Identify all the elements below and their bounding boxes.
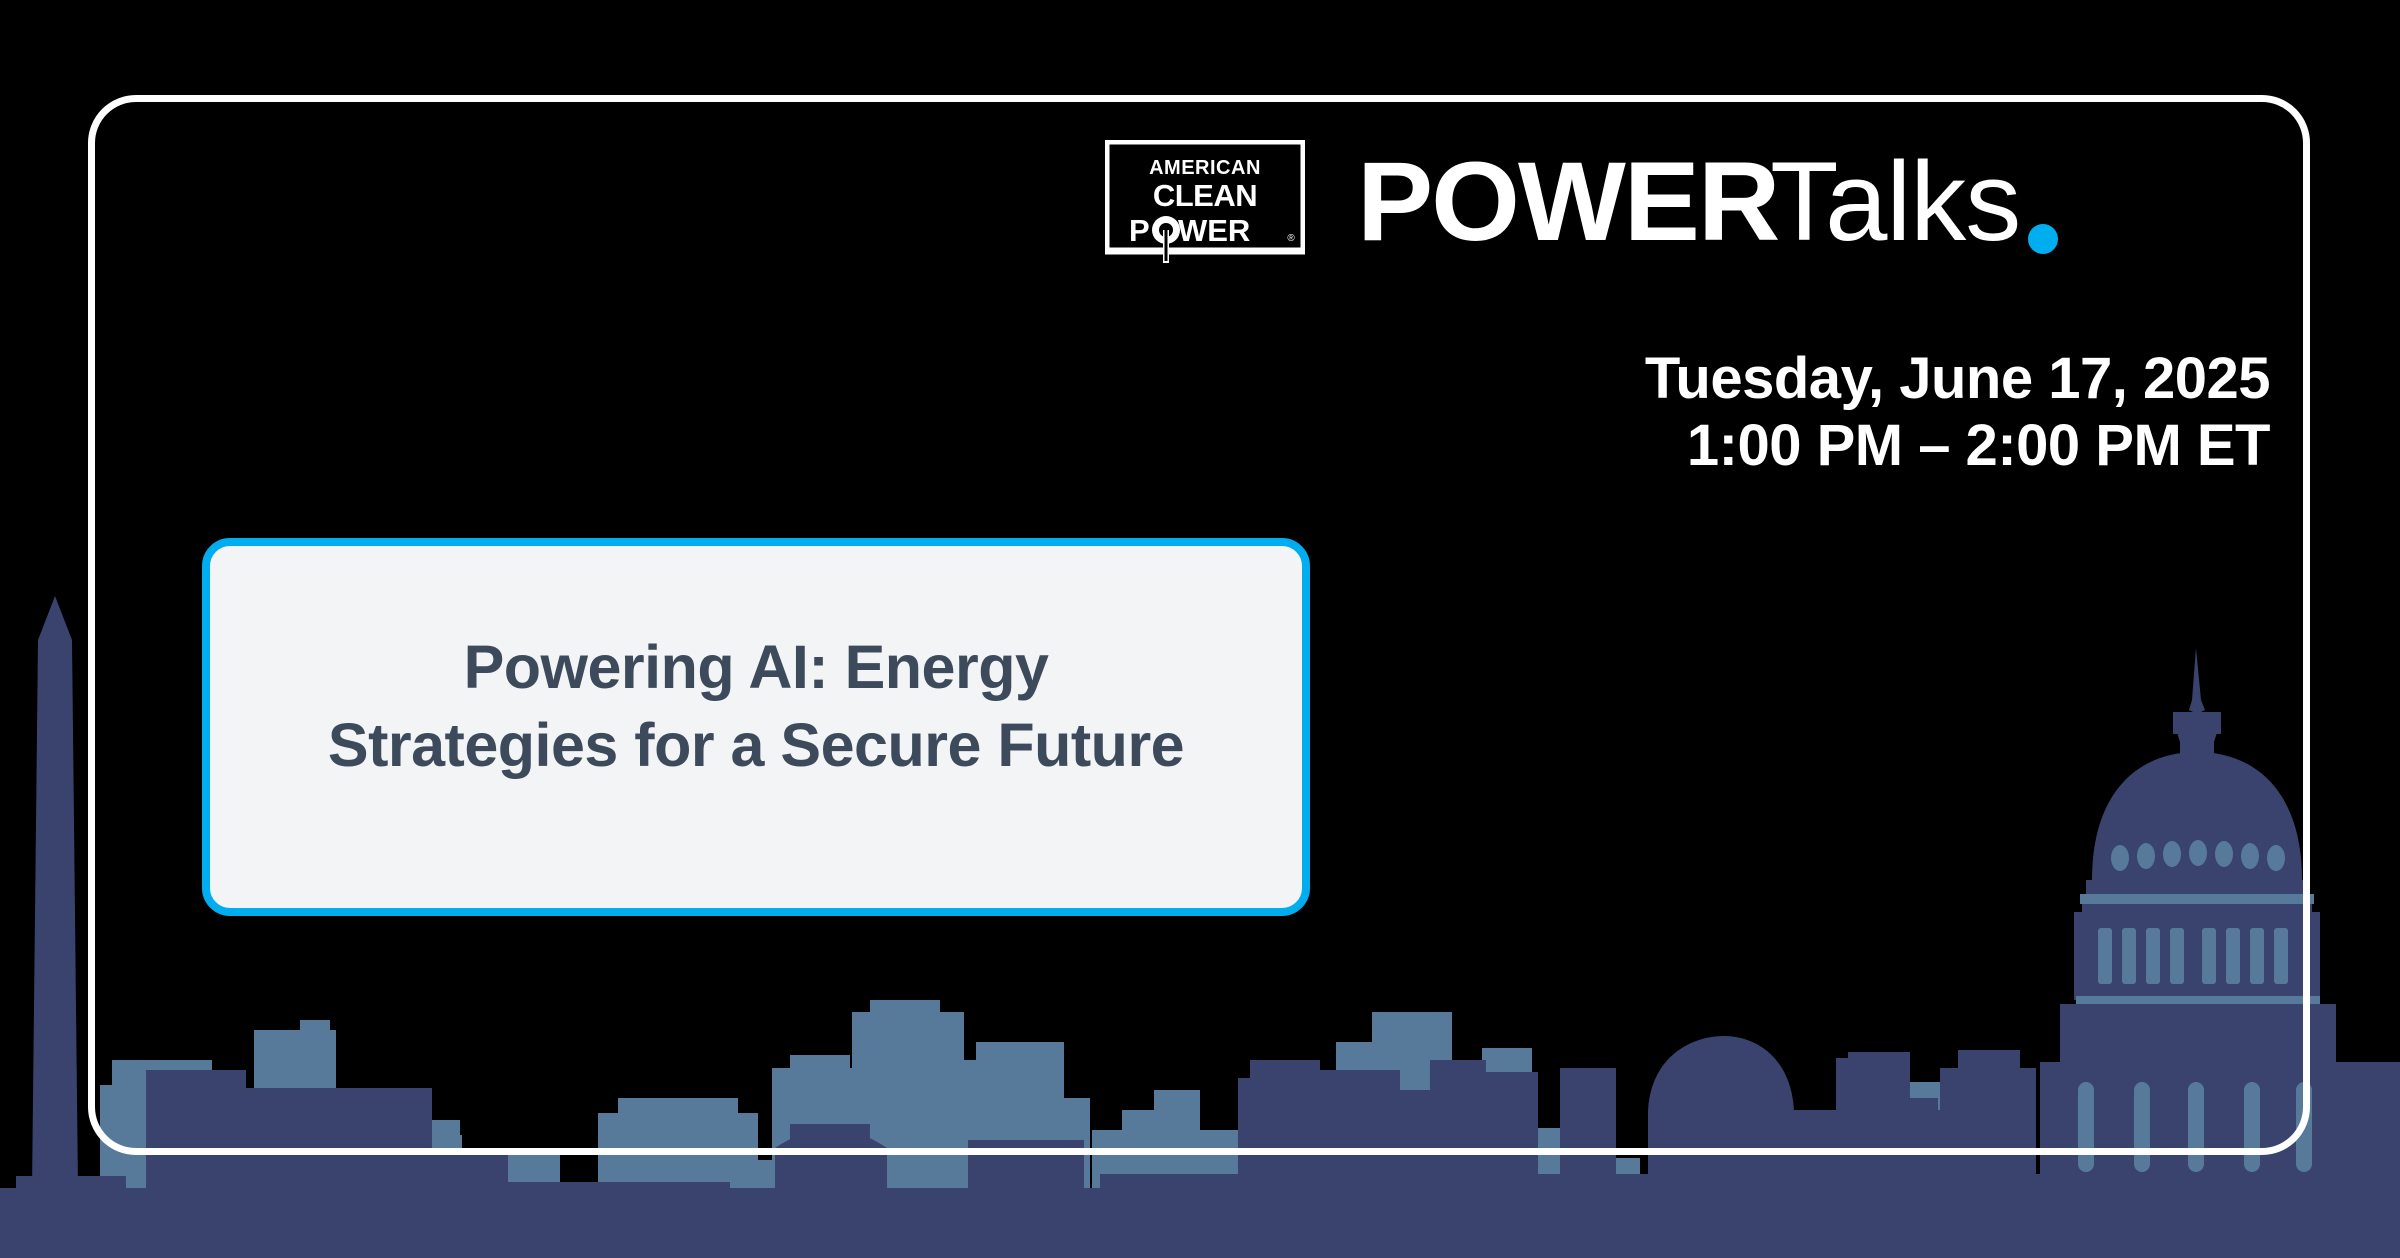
event-title: Powering AI: Energy Strategies for a Sec… — [328, 628, 1184, 784]
svg-text:P: P — [1129, 213, 1150, 248]
power-talks-promo-graphic: AMERICAN CLEAN P WER ® POWER Talks — [0, 0, 2400, 1258]
svg-text:®: ® — [1287, 233, 1295, 244]
svg-text:CLEAN: CLEAN — [1153, 178, 1257, 213]
american-clean-power-logo: AMERICAN CLEAN P WER ® — [1105, 140, 1305, 263]
power-talks-wordmark: POWER Talks — [1357, 146, 2058, 258]
wordmark-power: POWER — [1357, 146, 1778, 258]
event-datetime: Tuesday, June 17, 2025 1:00 PM – 2:00 PM… — [1645, 345, 2270, 480]
event-date: Tuesday, June 17, 2025 — [1645, 345, 2270, 412]
svg-text:AMERICAN: AMERICAN — [1149, 157, 1261, 179]
wordmark-talks: Talks — [1770, 146, 2020, 258]
svg-text:WER: WER — [1178, 213, 1250, 248]
event-time: 1:00 PM – 2:00 PM ET — [1645, 412, 2270, 479]
event-title-card: Powering AI: Energy Strategies for a Sec… — [202, 538, 1310, 916]
keyhole-plug-icon — [1152, 216, 1180, 263]
wordmark-dot-icon — [2028, 224, 2058, 254]
brand-header: AMERICAN CLEAN P WER ® POWER Talks — [1105, 140, 2058, 263]
